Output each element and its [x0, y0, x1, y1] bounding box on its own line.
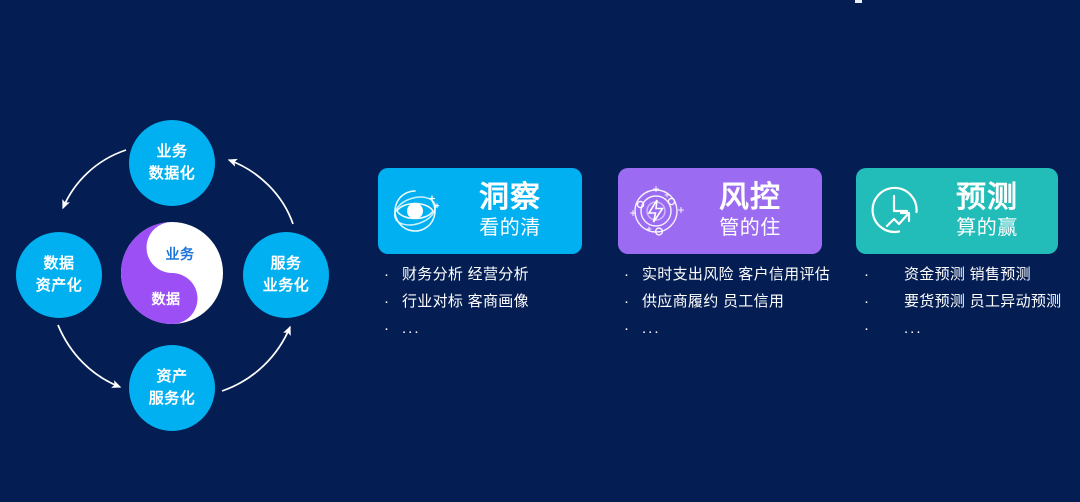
cycle-node-line2: 资产化 — [36, 275, 83, 297]
bullet-dot: · — [864, 321, 904, 336]
card-header-forecast: 预测 算的赢 — [856, 168, 1058, 254]
list-item: · 供应商履约 员工信用 — [624, 293, 822, 312]
cycle-node-line2: 数据化 — [149, 163, 196, 185]
bullet-dot: · — [624, 294, 642, 309]
list-item: · 财务分析 经营分析 — [384, 266, 582, 285]
bullet-dot: · — [384, 321, 402, 336]
list-item: · 资金预测 销售预测 — [864, 266, 1058, 285]
cycle-node-service-businessization[interactable]: 服务 业务化 — [243, 232, 329, 318]
list-item: · ... — [384, 320, 582, 339]
arrow-bottom-to-right — [222, 327, 290, 391]
bullet-text: 实时支出风险 客户信用评估 — [642, 266, 830, 285]
card-header-insight: 洞察 看的清 — [378, 168, 582, 254]
card-bullet-list-risk-control: · 实时支出风险 客户信用评估 · 供应商履约 员工信用 · ... — [618, 266, 822, 338]
cycle-node-business-datafication[interactable]: 业务 数据化 — [129, 120, 215, 206]
card-subtitle: 管的住 — [719, 216, 781, 240]
capability-card-forecast[interactable]: 预测 算的赢 · 资金预测 销售预测 · 要货预测 员工异动预测 · ... — [856, 168, 1058, 346]
arrow-right-to-top — [229, 160, 293, 224]
list-item: · ... — [864, 320, 1058, 339]
card-header-risk-control: 风控 管的住 — [618, 168, 822, 254]
cycle-node-line1: 资产 — [156, 366, 187, 388]
card-title-block-insight: 洞察 看的清 — [448, 182, 578, 239]
core-label-data: 数据 — [121, 222, 223, 309]
bullet-text: ... — [904, 320, 923, 339]
card-title: 预测 — [956, 182, 1018, 214]
cycle-node-line1: 服务 — [270, 253, 301, 275]
arrow-top-to-left — [63, 150, 126, 208]
eye-orbit-icon — [386, 180, 448, 242]
bullet-text: ... — [642, 320, 661, 339]
cycle-node-line1: 数据 — [43, 253, 74, 275]
cycle-node-line2: 业务化 — [263, 275, 310, 297]
arrow-left-to-bottom — [58, 325, 120, 387]
bullet-text: 要货预测 员工异动预测 — [904, 293, 1061, 312]
card-title-block-forecast: 预测 算的赢 — [926, 182, 1054, 239]
cycle-node-asset-servitization[interactable]: 资产 服务化 — [129, 345, 215, 431]
bullet-text: ... — [402, 320, 421, 339]
top-edge-artifact — [855, 0, 862, 3]
bullet-text: 行业对标 客商画像 — [402, 293, 529, 312]
bullet-text: 供应商履约 员工信用 — [642, 293, 784, 312]
bullet-dot: · — [864, 294, 904, 309]
card-bullet-list-forecast: · 资金预测 销售预测 · 要货预测 员工异动预测 · ... — [856, 266, 1058, 338]
lightning-orbit-icon — [626, 180, 688, 242]
bullet-dot: · — [624, 321, 642, 336]
card-bullet-list-insight: · 财务分析 经营分析 · 行业对标 客商画像 · ... — [378, 266, 582, 338]
capability-card-risk-control[interactable]: 风控 管的住 · 实时支出风险 客户信用评估 · 供应商履约 员工信用 · ..… — [618, 168, 822, 346]
list-item: · 要货预测 员工异动预测 — [864, 293, 1058, 312]
cycle-node-line2: 服务化 — [149, 388, 196, 410]
card-title: 风控 — [719, 182, 781, 214]
bullet-dot: · — [864, 267, 904, 282]
cycle-node-line1: 业务 — [156, 141, 187, 163]
list-item: · 行业对标 客商画像 — [384, 293, 582, 312]
list-item: · ... — [624, 320, 822, 339]
bullet-dot: · — [384, 294, 402, 309]
bullet-text: 资金预测 销售预测 — [904, 266, 1031, 285]
bullet-dot: · — [624, 267, 642, 282]
bullet-text: 财务分析 经营分析 — [402, 266, 529, 285]
card-title-block-risk-control: 风控 管的住 — [688, 182, 818, 239]
value-cycle-diagram: 业务 数据 业务 数据化 数据 资产化 服务 业务化 资产 服务化 — [0, 100, 360, 460]
cycle-node-data-assetization[interactable]: 数据 资产化 — [16, 232, 102, 318]
bullet-dot: · — [384, 267, 402, 282]
capability-card-insight[interactable]: 洞察 看的清 · 财务分析 经营分析 · 行业对标 客商画像 · ... — [378, 168, 582, 346]
list-item: · 实时支出风险 客户信用评估 — [624, 266, 822, 285]
clock-trend-icon — [864, 180, 926, 242]
card-title: 洞察 — [479, 182, 541, 214]
card-subtitle: 看的清 — [479, 216, 541, 240]
slide-canvas: 业务 数据 业务 数据化 数据 资产化 服务 业务化 资产 服务化 — [0, 0, 1080, 502]
card-subtitle: 算的赢 — [956, 216, 1018, 240]
